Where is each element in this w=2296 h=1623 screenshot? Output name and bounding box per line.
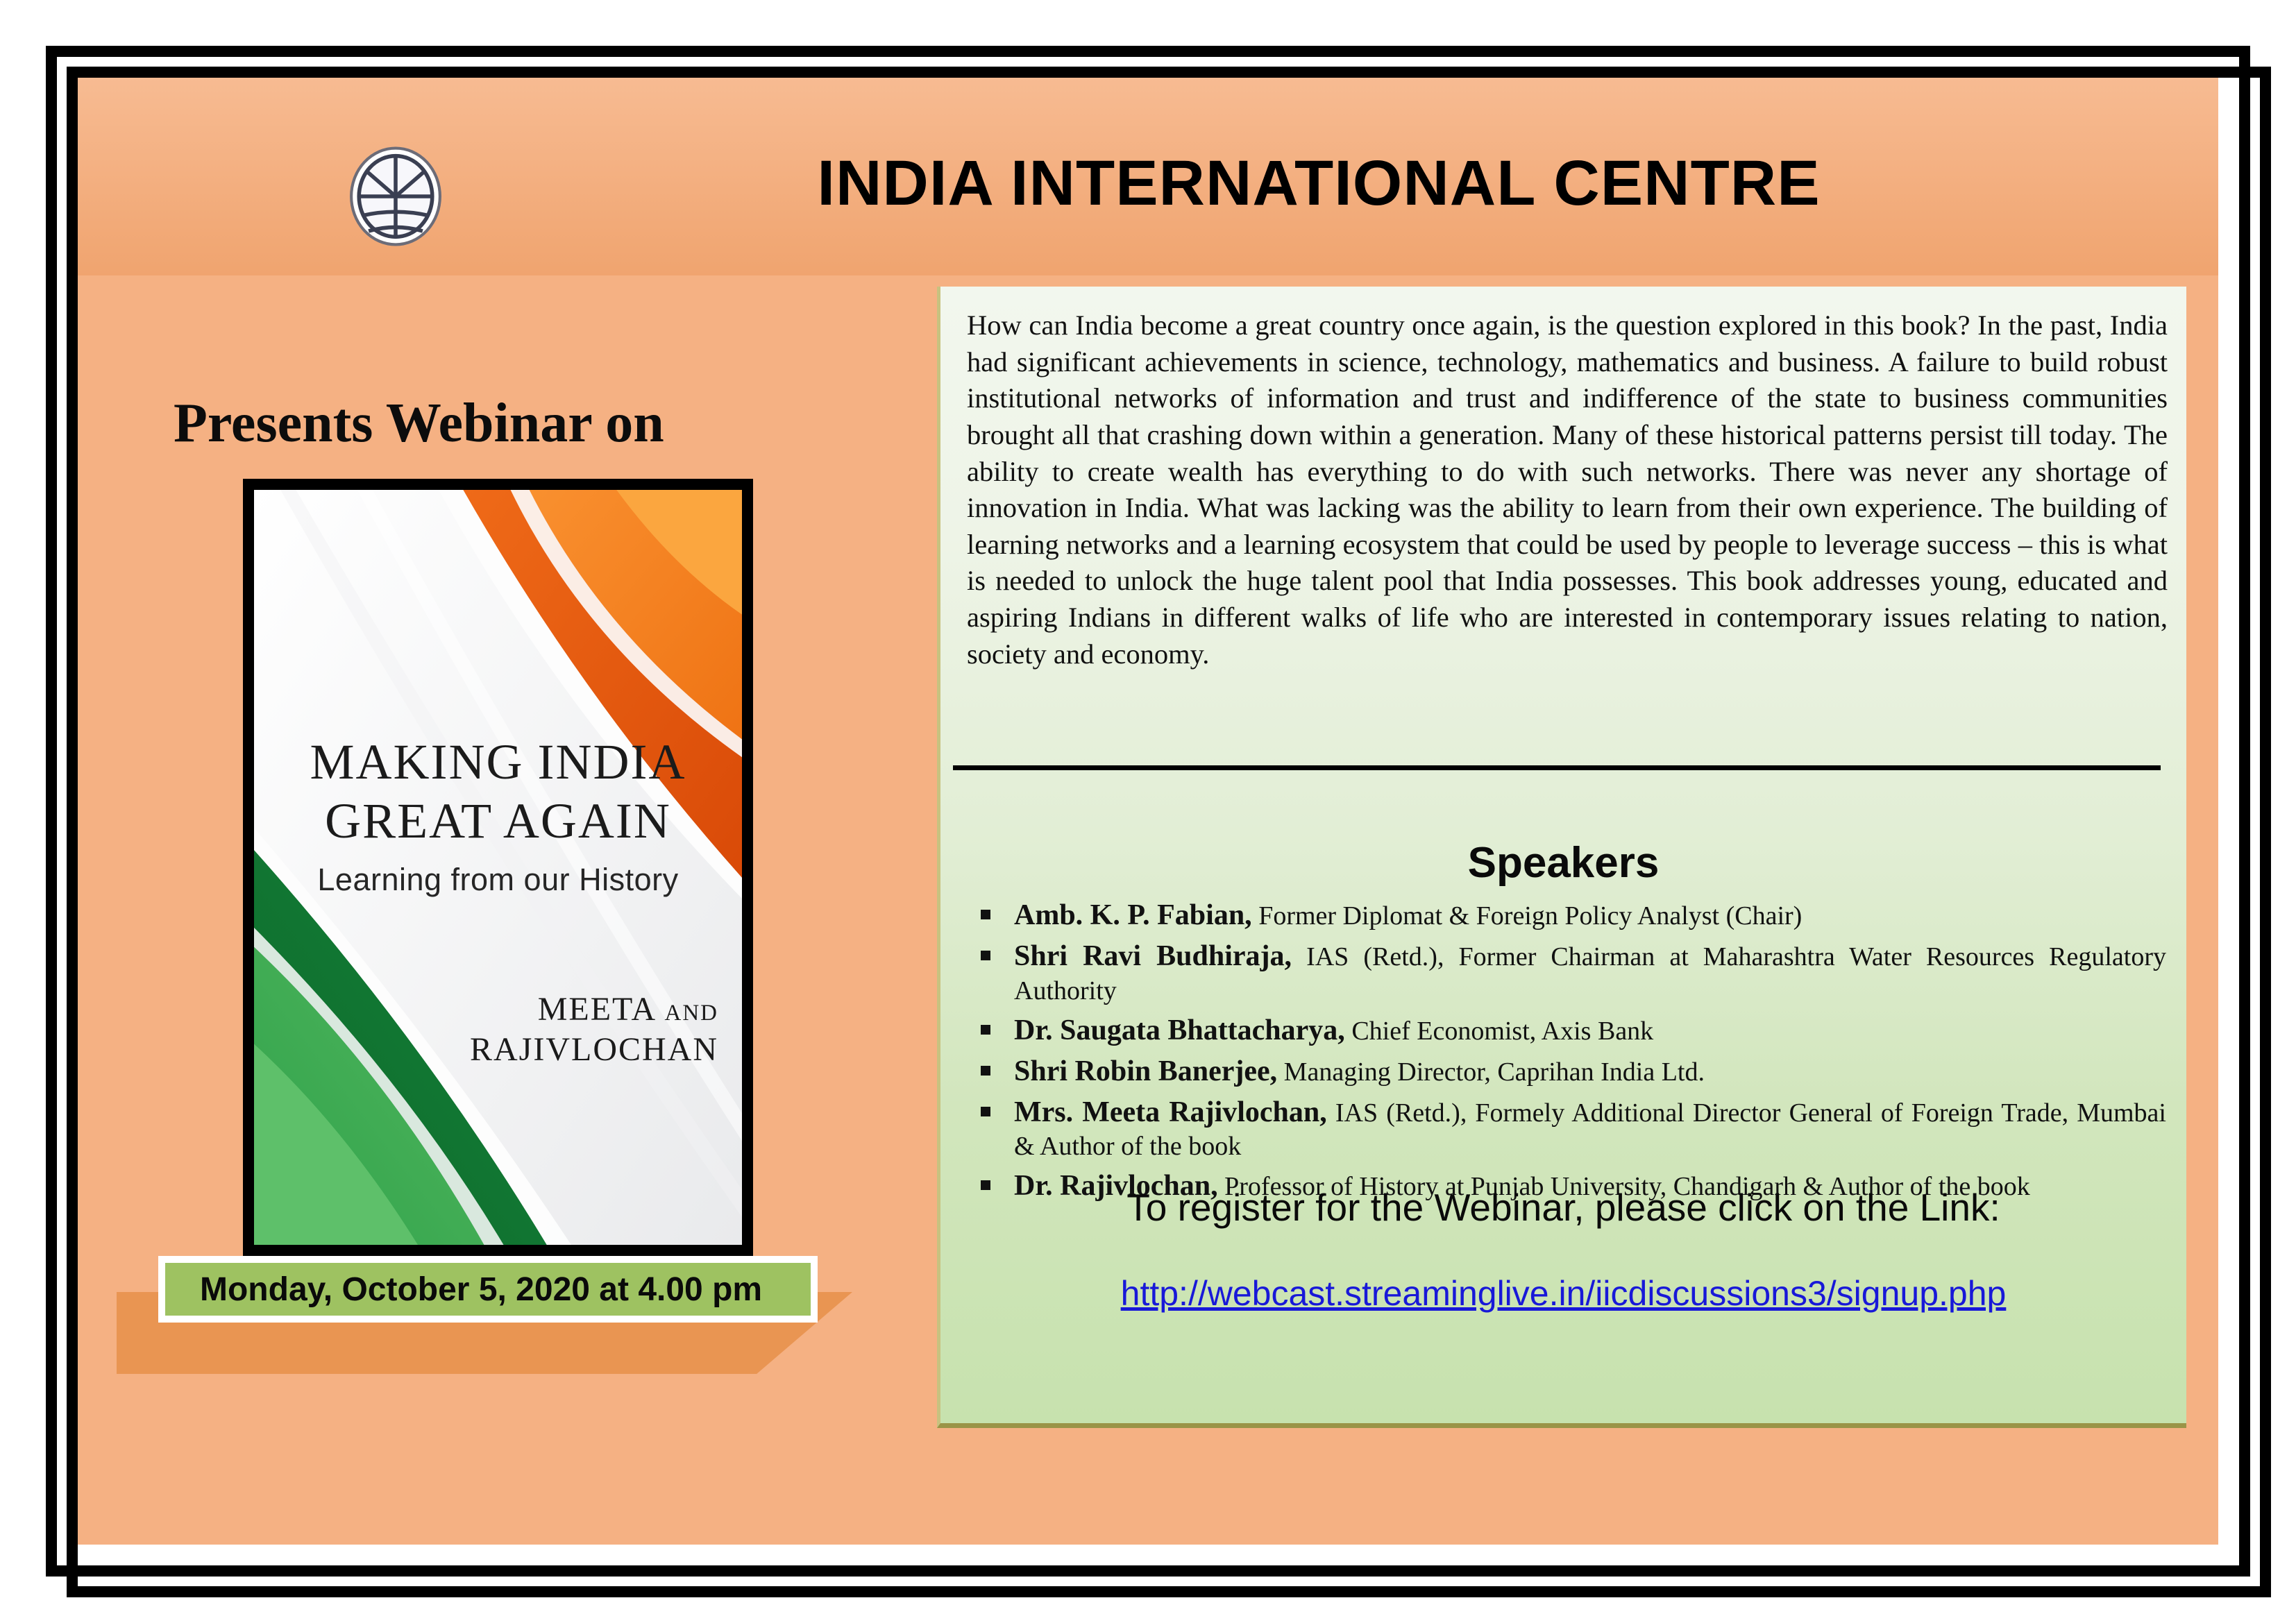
bullet-square-icon <box>981 1066 990 1076</box>
bullet-square-icon <box>981 910 990 919</box>
date-banner-text: Monday, October 5, 2020 at 4.00 pm <box>165 1271 762 1309</box>
list-item: Dr. Saugata Bhattacharya, Chief Economis… <box>965 1012 2166 1049</box>
speaker-role: Chief Economist, Axis Bank <box>1345 1017 1653 1046</box>
speaker-name: Shri Ravi Budhiraja, <box>1014 940 1292 972</box>
book-author-2: RAJIVLOCHAN <box>254 1030 718 1070</box>
register-link-wrapper: http://webcast.streaminglive.in/iicdiscu… <box>940 1273 2186 1314</box>
book-cover-text-block: MAKING INDIA GREAT AGAIN Learning from o… <box>254 733 742 898</box>
book-description-paragraph: How can India become a great country onc… <box>967 307 2168 672</box>
register-prompt: To register for the Webinar, please clic… <box>940 1185 2186 1230</box>
book-title-line-1: MAKING INDIA <box>254 733 742 792</box>
book-author-1: MEETA <box>538 991 655 1028</box>
book-author-conjunction: AND <box>665 1001 719 1026</box>
speaker-name: Shri Robin Banerjee, <box>1014 1055 1277 1087</box>
book-cover-image: MAKING INDIA GREAT AGAIN Learning from o… <box>243 479 753 1256</box>
speaker-name: Mrs. Meeta Rajivlochan, <box>1014 1096 1327 1128</box>
book-title-line-2: GREAT AGAIN <box>254 792 742 851</box>
speaker-role: Former Diplomat & Foreign Policy Analyst… <box>1252 901 1803 931</box>
speaker-name: Dr. Saugata Bhattacharya, <box>1014 1014 1345 1046</box>
list-item: Shri Robin Banerjee, Managing Director, … <box>965 1053 2166 1090</box>
list-item: Amb. K. P. Fabian, Former Diplomat & For… <box>965 897 2166 934</box>
globe-grid-icon <box>347 144 444 248</box>
book-subtitle: Learning from our History <box>254 862 742 898</box>
list-item: Shri Ravi Budhiraja, IAS (Retd.), Former… <box>965 938 2166 1008</box>
bullet-square-icon <box>981 1025 990 1035</box>
book-authors-block: MEETA AND RAJIVLOCHAN <box>254 989 718 1069</box>
speaker-name: Amb. K. P. Fabian, <box>1014 899 1252 931</box>
date-banner: Monday, October 5, 2020 at 4.00 pm <box>158 1256 818 1323</box>
speakers-heading: Speakers <box>940 838 2186 887</box>
speaker-role: Managing Director, Caprihan India Ltd. <box>1277 1057 1705 1087</box>
register-link[interactable]: http://webcast.streaminglive.in/iicdiscu… <box>1121 1274 2007 1313</box>
content-panel: How can India become a great country onc… <box>937 287 2186 1428</box>
list-item: Mrs. Meeta Rajivlochan, IAS (Retd.), For… <box>965 1094 2166 1164</box>
section-divider <box>953 765 2161 770</box>
poster-root: INDIA INTERNATIONAL CENTRE Presents Webi… <box>0 0 2296 1623</box>
bullet-square-icon <box>981 1107 990 1116</box>
speakers-list: Amb. K. P. Fabian, Former Diplomat & For… <box>965 897 2166 1209</box>
bullet-square-icon <box>981 951 990 960</box>
page-title: INDIA INTERNATIONAL CENTRE <box>625 147 2013 220</box>
presents-webinar-label: Presents Webinar on <box>174 392 833 455</box>
